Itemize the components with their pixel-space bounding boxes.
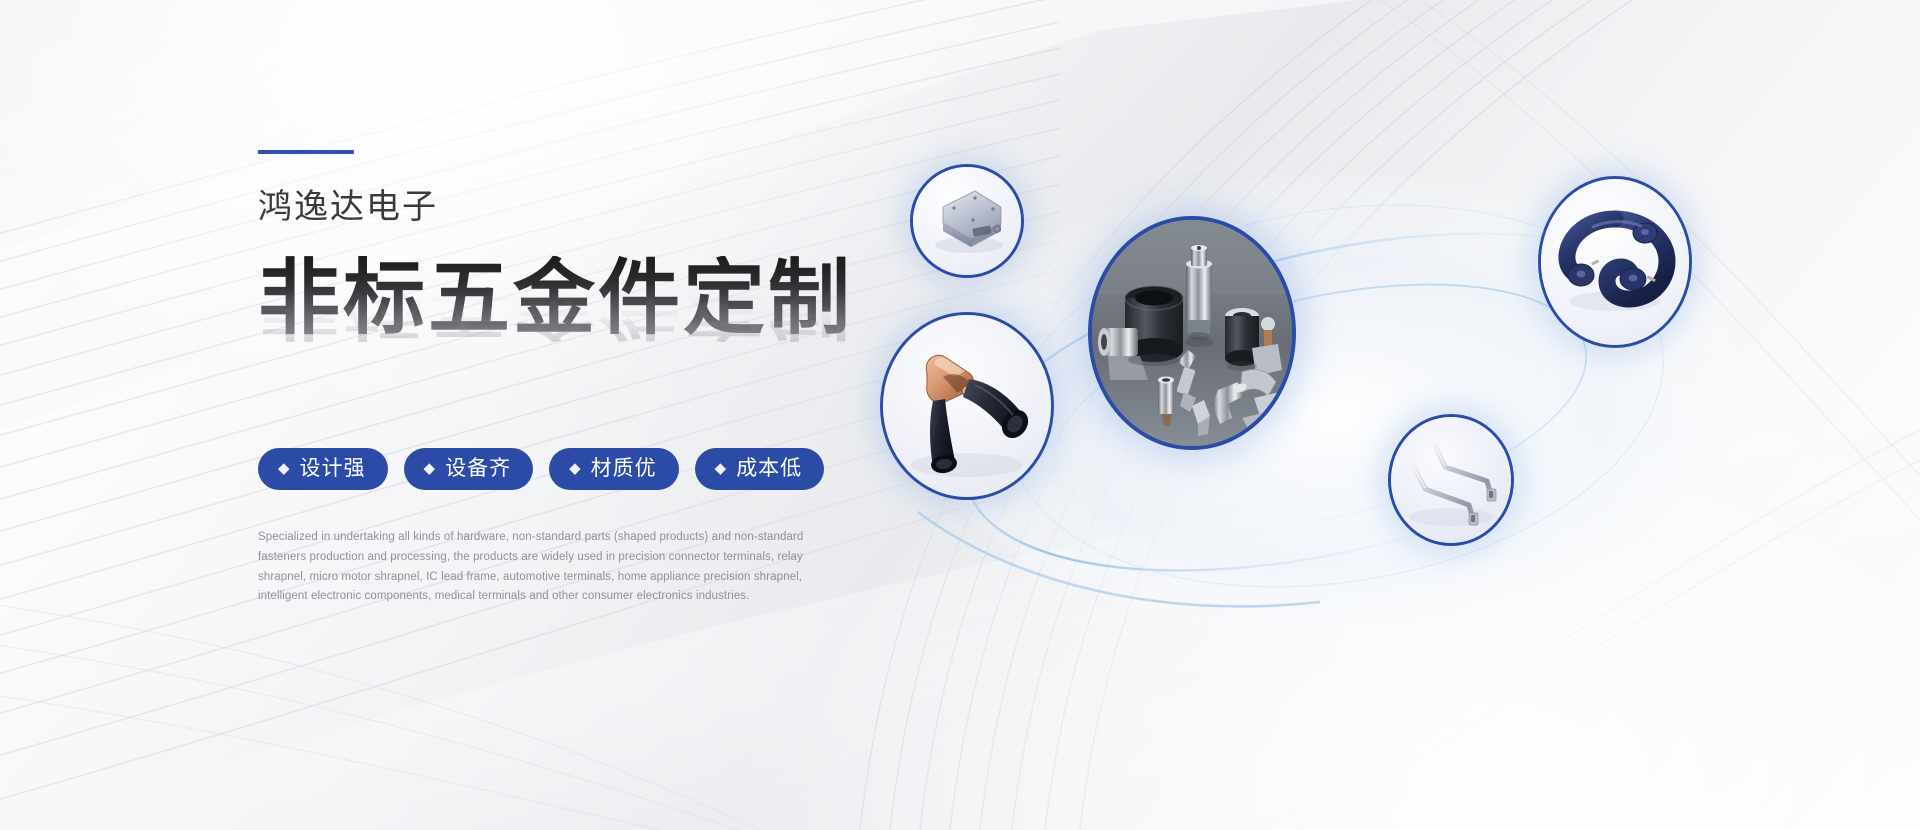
- product-node-alligator-clip[interactable]: [880, 312, 1054, 500]
- diamond-icon: ◆: [278, 461, 291, 476]
- feature-pill-label: 设备齐: [445, 458, 511, 479]
- diamond-icon: ◆: [715, 461, 728, 476]
- feature-pill-label: 设计强: [300, 458, 366, 479]
- feature-pill-list: ◆ 设计强 ◆ 设备齐 ◆ 材质优 ◆ 成本低: [258, 448, 958, 490]
- product-node-precision-parts[interactable]: [1088, 216, 1296, 450]
- brand-name: 鸿逸达电子: [258, 190, 958, 224]
- product-node-retaining-ring[interactable]: [1538, 176, 1692, 348]
- headline-block: 非标五金件定制 非标五金件定制: [258, 256, 958, 396]
- bent-pins-icon: [1391, 417, 1511, 543]
- product-node-metal-enclosure[interactable]: [910, 164, 1024, 278]
- feature-pill-equipment[interactable]: ◆ 设备齐: [404, 448, 534, 490]
- feature-pill-cost[interactable]: ◆ 成本低: [695, 448, 825, 490]
- alligator-clip-icon: [883, 315, 1051, 497]
- description-paragraph: Specialized in undertaking all kinds of …: [258, 528, 818, 607]
- hero-banner: 鸿逸达电子 非标五金件定制 非标五金件定制 ◆ 设计强 ◆ 设备齐 ◆ 材质优 …: [0, 0, 1920, 830]
- diamond-icon: ◆: [424, 461, 437, 476]
- accent-divider: [258, 150, 354, 154]
- product-node-bent-pins[interactable]: [1388, 414, 1514, 546]
- feature-pill-material[interactable]: ◆ 材质优: [549, 448, 679, 490]
- metal-enclosure-icon: [913, 167, 1021, 275]
- precision-parts-icon: [1092, 220, 1292, 446]
- hero-text-column: 鸿逸达电子 非标五金件定制 非标五金件定制 ◆ 设计强 ◆ 设备齐 ◆ 材质优 …: [258, 150, 958, 619]
- feature-pill-label: 材质优: [591, 458, 657, 479]
- diamond-icon: ◆: [569, 461, 582, 476]
- feature-pill-label: 成本低: [736, 458, 802, 479]
- product-showcase: [900, 150, 1760, 650]
- feature-pill-design[interactable]: ◆ 设计强: [258, 448, 388, 490]
- page-title: 非标五金件定制: [258, 256, 853, 342]
- retaining-ring-icon: [1541, 179, 1689, 345]
